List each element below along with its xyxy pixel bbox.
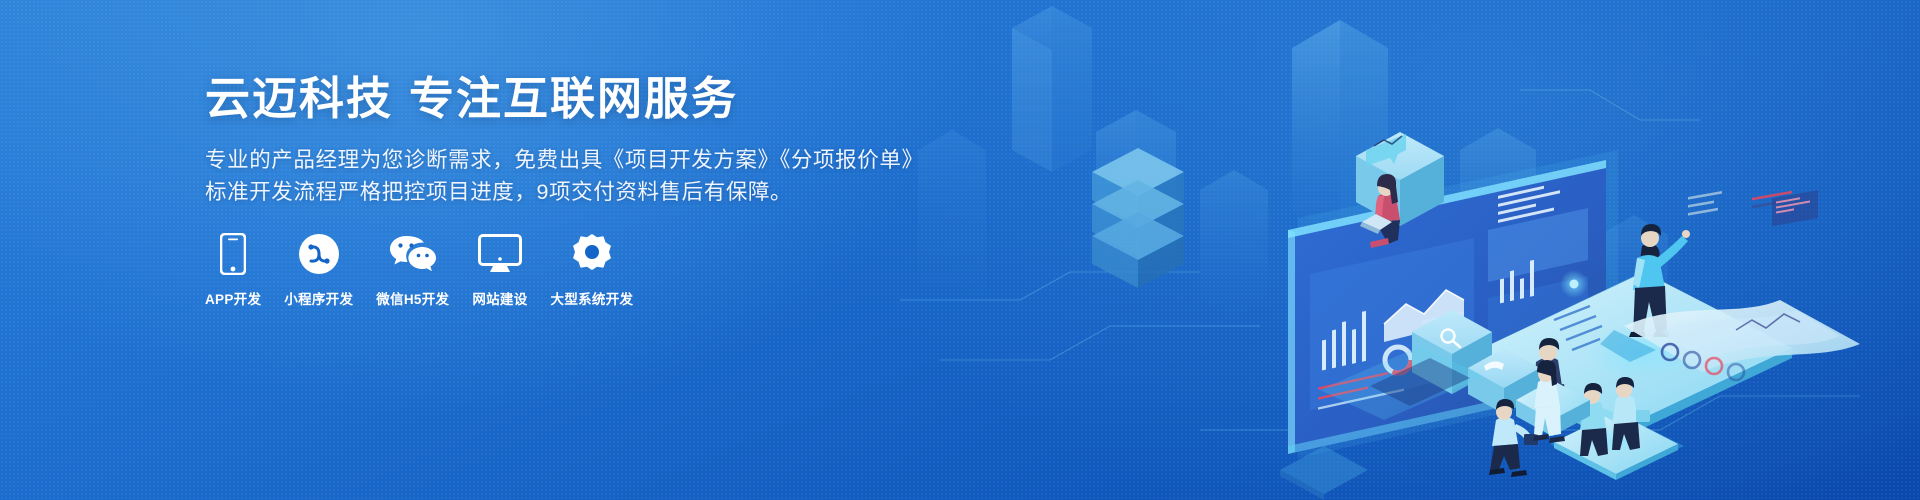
service-item-large-system[interactable]: 大型系统开发 [551,232,634,308]
person-walking-briefcase [1489,399,1538,477]
hero-subtitle: 专业的产品经理为您诊断需求，免费出具《项目开发方案》《分项报价单》 标准开发流程… [205,144,905,208]
page-title: 云迈科技专注互联网服务 [205,72,905,126]
service-label-wechat-h5: 微信H5开发 [376,288,449,308]
data-sheet-paper [1624,190,1860,380]
isometric-tech-illustration [900,0,1920,500]
service-item-website[interactable]: 网站建设 [472,232,527,308]
subtitle-line-1: 专业的产品经理为您诊断需求，免费出具《项目开发方案》《分项报价单》 [205,144,905,176]
mini-program-icon [298,232,340,276]
foreground-cube [1280,446,1368,500]
hero-text-block: 云迈科技专注互联网服务 专业的产品经理为您诊断需求，免费出具《项目开发方案》《分… [205,72,905,208]
search-icon-on-block [1442,330,1461,348]
sheet-charts [1662,191,1800,380]
dashboard-screen [1288,150,1618,458]
mobile-phone-icon [220,232,246,276]
gear-icon [571,232,613,276]
service-icon-row: APP开发 小程序开发 [205,232,633,308]
screen-panel-right-top [1488,186,1588,282]
staircase-blocks [1356,132,1590,436]
service-item-wechat-h5[interactable]: 微信H5开发 [376,232,449,308]
server-stack-cube [1092,148,1184,288]
title-part-two: 专注互联网服务 [409,73,738,124]
background-isometric-buildings [918,0,1668,360]
tablet-platform [1458,272,1800,442]
wechat-icon [389,232,437,276]
service-label-app: APP开发 [205,288,261,308]
person-sitting-laptop [1360,134,1406,248]
monitor-icon [478,232,522,276]
person-standing-bottom-pad [1533,360,1565,443]
title-part-one: 云迈科技 [205,73,393,124]
subtitle-line-2: 标准开发流程严格把控项目进度，9项交付资料售后有保障。 [205,176,905,208]
info-panel-code [1320,0,1604,420]
small-tablet-two-people [1550,377,1684,480]
service-label-website: 网站建设 [472,288,527,308]
person-seated-laptop [1508,306,1602,426]
screen-panel-left [1310,238,1474,410]
screen-panel-right-bottom [1488,260,1588,370]
circuit-lines [900,90,1860,430]
service-label-miniprogram: 小程序开发 [284,288,353,308]
service-item-miniprogram[interactable]: 小程序开发 [284,232,353,308]
service-label-large-system: 大型系统开发 [551,288,634,308]
hero-banner: 云迈科技专注互联网服务 专业的产品经理为您诊断需求，免费出具《项目开发方案》《分… [0,0,1920,500]
service-item-app[interactable]: APP开发 [205,232,261,308]
person-standing-pointing [1629,224,1690,337]
